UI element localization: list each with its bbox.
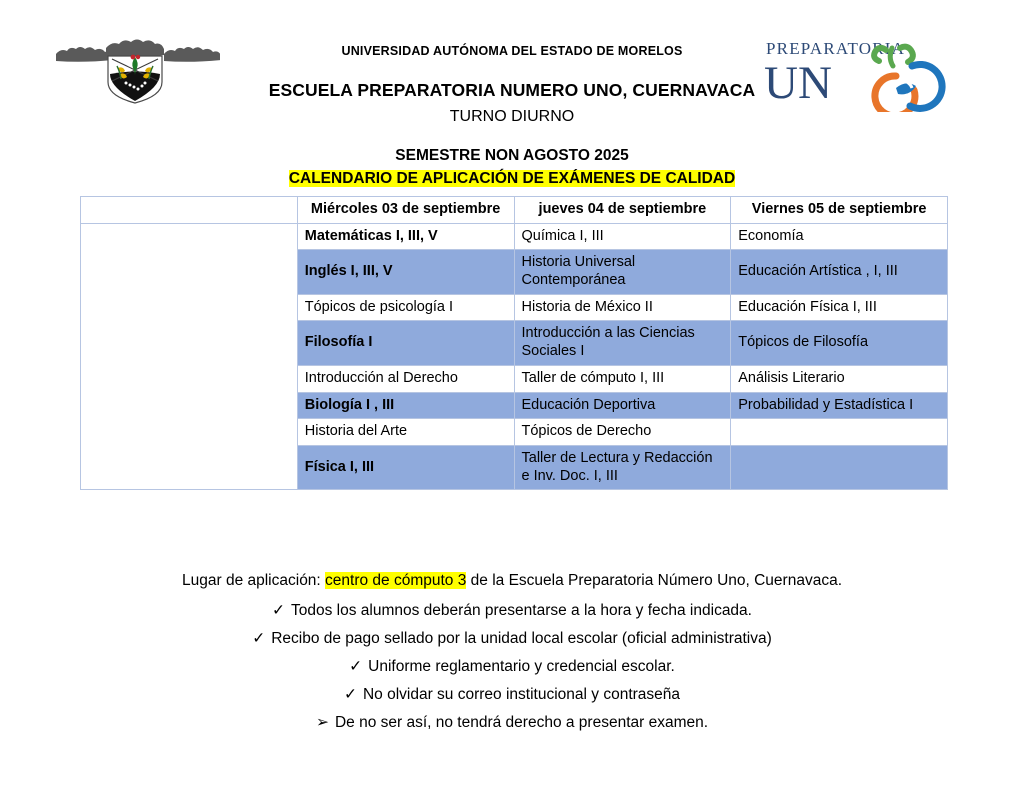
list-item-label: Uniforme reglamentario y credencial esco… (368, 658, 675, 675)
list-item: ✓No olvidar su correo institucional y co… (0, 685, 1024, 704)
document-footer: Lugar de aplicación: centro de cómputo 3… (0, 572, 1024, 732)
checkmark-icon: ✓ (344, 685, 357, 704)
document-title: CALENDARIO DE APLICACIÓN DE EXÁMENES DE … (0, 170, 1024, 188)
subject-cell: Inglés I, III, V (297, 250, 514, 294)
time-slot-line-2: 9:30 (88, 348, 290, 366)
subject-cell: Taller de cómputo I, III (514, 365, 731, 392)
subject-cell: Tópicos de Derecho (514, 419, 731, 446)
checkmark-icon: ✓ (252, 629, 265, 648)
location-line: Lugar de aplicación: centro de cómputo 3… (0, 572, 1024, 590)
list-item-label: Recibo de pago sellado por la unidad loc… (271, 630, 772, 647)
subject-cell: Física I, III (297, 445, 514, 489)
subject-cell (731, 419, 948, 446)
list-item: ➢De no ser así, no tendrá derecho a pres… (0, 713, 1024, 732)
subject-cell: Probabilidad y Estadística I (731, 392, 948, 419)
subject-cell: Educación Física I, III (731, 294, 948, 321)
day-column-header-2: jueves 04 de septiembre (514, 197, 731, 224)
list-item: ✓Uniforme reglamentario y credencial esc… (0, 657, 1024, 676)
location-prefix: Lugar de aplicación: (182, 572, 325, 589)
list-item: ✓Todos los alumnos deberán presentarse a… (0, 601, 1024, 620)
list-item-label: De no ser así, no tendrá derecho a prese… (335, 714, 708, 731)
list-item-label: No olvidar su correo institucional y con… (363, 686, 680, 703)
location-suffix: de la Escuela Preparatoria Número Uno, C… (466, 572, 842, 589)
school-name: ESCUELA PREPARATORIA NUMERO UNO, CUERNAV… (0, 80, 1024, 101)
subject-cell: Historia de México II (514, 294, 731, 321)
subject-cell: Tópicos de Filosofía (731, 321, 948, 365)
time-slot-label: 8:30-9:30Horas. (81, 223, 298, 490)
subject-cell: Matemáticas I, III, V (297, 223, 514, 250)
document-header: PREPARATORIA UN UNIVERSIDAD AUTÓNOMA DEL… (0, 0, 1024, 188)
subject-cell: Tópicos de psicología I (297, 294, 514, 321)
schedule-column-header: HORARIO (81, 197, 298, 224)
subject-cell: Análisis Literario (731, 365, 948, 392)
subject-cell: Economía (731, 223, 948, 250)
subject-cell: Introducción a las Ciencias Sociales I (514, 321, 731, 365)
document-title-part2: APLICACIÓN DE EXÁMENES DE CALIDAD (422, 170, 735, 187)
exam-schedule-table-wrapper: HORARIOMiércoles 03 de septiembrejueves … (80, 196, 948, 490)
subject-cell: Taller de Lectura y Redacción e Inv. Doc… (514, 445, 731, 489)
subject-cell: Filosofía I (297, 321, 514, 365)
instructions-list: ✓Todos los alumnos deberán presentarse a… (0, 601, 1024, 732)
semester-label: SEMESTRE NON AGOSTO 2025 (0, 147, 1024, 165)
location-highlight: centro de cómputo 3 (325, 572, 466, 589)
subject-cell: Biología I , III (297, 392, 514, 419)
document-title-part1: CALENDARIO DE (289, 170, 422, 187)
time-slot-line-3: Horas. (88, 365, 290, 383)
time-slot-line-1: 8:30- (88, 330, 290, 348)
subject-cell (731, 445, 948, 489)
list-item-label: Todos los alumnos deberán presentarse a … (291, 602, 752, 619)
shift-label: TURNO DIURNO (0, 108, 1024, 126)
checkmark-icon: ✓ (272, 601, 285, 620)
day-column-header-3: Viernes 05 de septiembre (731, 197, 948, 224)
table-row: 8:30-9:30Horas.Matemáticas I, III, VQuím… (81, 223, 948, 250)
subject-cell: Educación Artística , I, III (731, 250, 948, 294)
university-name: UNIVERSIDAD AUTÓNOMA DEL ESTADO DE MOREL… (0, 44, 1024, 58)
list-item: ✓Recibo de pago sellado por la unidad lo… (0, 629, 1024, 648)
day-column-header-1: Miércoles 03 de septiembre (297, 197, 514, 224)
exam-schedule-table: HORARIOMiércoles 03 de septiembrejueves … (80, 196, 948, 490)
subject-cell: Educación Deportiva (514, 392, 731, 419)
arrow-bullet-icon: ➢ (316, 713, 329, 732)
subject-cell: Historia del Arte (297, 419, 514, 446)
subject-cell: Química I, III (514, 223, 731, 250)
checkmark-icon: ✓ (349, 657, 362, 676)
subject-cell: Historia Universal Contemporánea (514, 250, 731, 294)
subject-cell: Introducción al Derecho (297, 365, 514, 392)
